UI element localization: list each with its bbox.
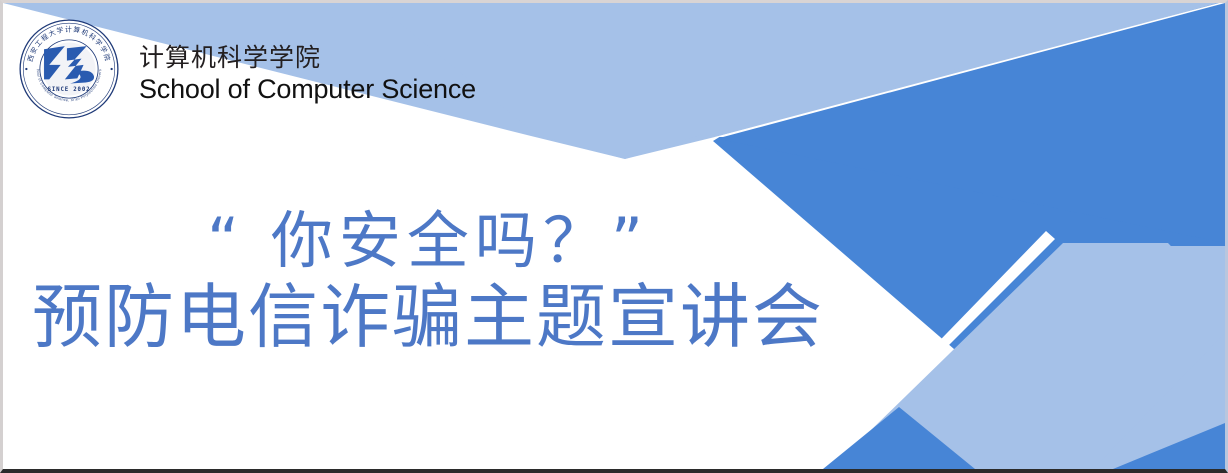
- top-light-blue-polygon-main: [375, 3, 1213, 159]
- white-diagonal-divider: [715, 3, 1225, 137]
- event-title-line-2: 预防电信诈骗主题宣讲会: [3, 277, 853, 358]
- event-title-line-1: “ 你安全吗？”: [3, 208, 853, 275]
- school-name-cn: 计算机科学学院: [139, 43, 476, 74]
- university-seal-logo-icon: 西安工程大学计算机科学学院 School of Computer Science…: [17, 17, 121, 121]
- right-light-blue-diagonal-band: [831, 243, 1225, 469]
- top-right-dark-blue-upper: [719, 3, 1225, 243]
- event-banner: 西安工程大学计算机科学学院 School of Computer Science…: [0, 0, 1228, 473]
- event-title-block: “ 你安全吗？” 预防电信诈骗主题宣讲会: [3, 208, 853, 358]
- banner-header: 西安工程大学计算机科学学院 School of Computer Science…: [17, 17, 476, 121]
- school-name-group: 计算机科学学院 School of Computer Science: [139, 33, 476, 106]
- school-name-en: School of Computer Science: [139, 73, 476, 105]
- bottom-dark-blue-triangle: [823, 407, 975, 469]
- right-light-blue-band-core: [839, 246, 1225, 469]
- svg-text:SINCE 2002: SINCE 2002: [48, 87, 91, 93]
